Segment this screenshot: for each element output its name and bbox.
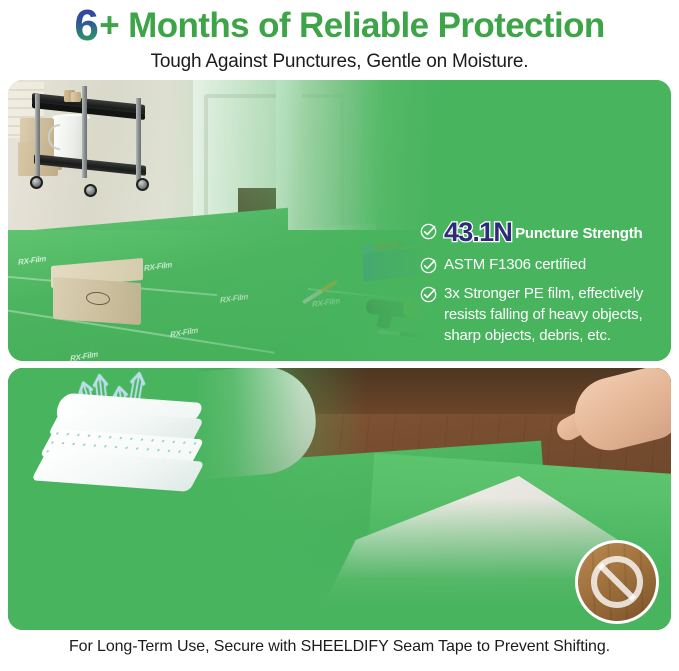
no-slip-prohibition-icon	[591, 556, 643, 608]
feature-row: 43.1NPuncture Strength	[420, 220, 670, 246]
stat-value: 43.1N	[444, 217, 512, 247]
check-circle-icon	[420, 286, 437, 303]
feature-row: ASTM F1306 certified	[420, 254, 670, 275]
page-title: 6+ Months of Reliable Protection	[0, 4, 679, 48]
feature-text: 43.1NPuncture Strength	[444, 220, 643, 246]
panel-moisture-breathability: RX-Film ⤊ ⤊ ⤊ ⤊ 7.12g/m²·24h	[8, 368, 671, 630]
breathability-diagram: ⤊ ⤊ ⤊ ⤊	[32, 376, 232, 502]
headline-number: 6	[74, 1, 99, 50]
headline-rest: + Months of Reliable Protection	[99, 6, 604, 45]
footer-note: For Long-Term Use, Secure with SHEELDIFY…	[0, 638, 679, 656]
check-circle-icon	[420, 257, 437, 274]
feature-text: ASTM F1306 certified	[444, 254, 586, 275]
feature-row: 3x Stronger PE film, effectively resists…	[420, 283, 670, 346]
header: 6+ Months of Reliable Protection Tough A…	[0, 0, 679, 73]
stat-label: Puncture Strength	[515, 225, 642, 242]
feature-text: 3x Stronger PE film, effectively resists…	[444, 283, 670, 346]
feature-list-puncture: 43.1NPuncture Strength ASTM F1306 certif…	[420, 220, 670, 354]
page-subtitle: Tough Against Punctures, Gentle on Moist…	[0, 51, 679, 73]
check-circle-icon	[420, 223, 437, 240]
panel-puncture-protection: RX-Film RX-Film RX-Film RX-Film RX-Film …	[8, 80, 671, 361]
green-gradient-overlay-bottom	[8, 498, 671, 630]
no-slip-badge	[575, 540, 659, 624]
